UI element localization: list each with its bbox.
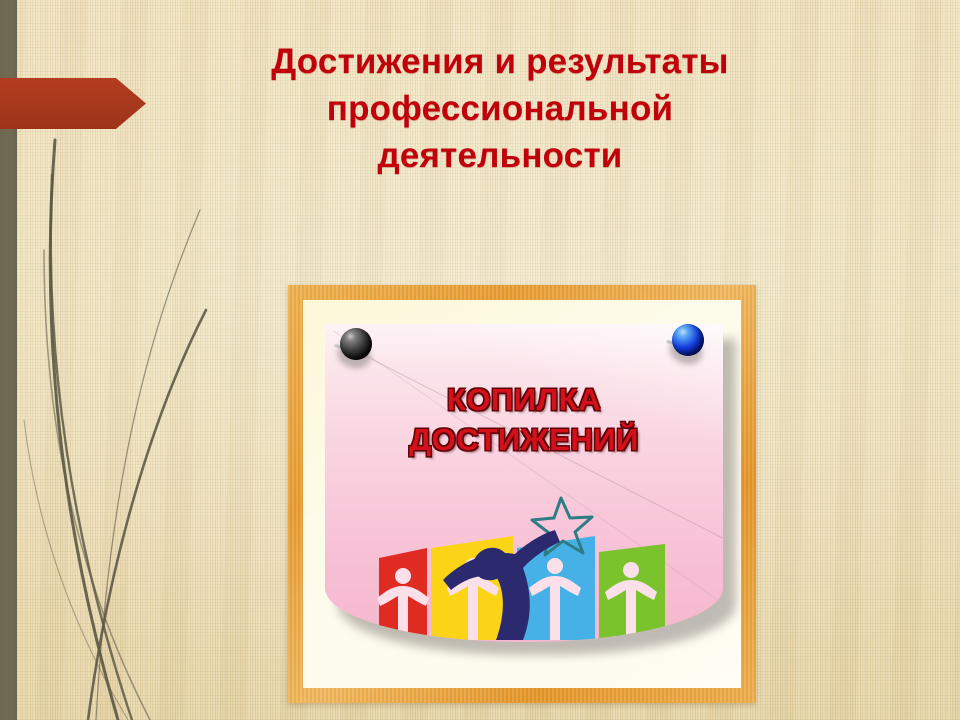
headline-line-2: ДОСТИЖЕНИЙ — [325, 420, 723, 460]
picture-headline: КОПИЛКА ДОСТИЖЕНИЙ — [325, 380, 723, 460]
title-line-2: профессиональной — [150, 85, 850, 132]
pin-dark-head — [340, 328, 372, 360]
pin-blue — [665, 322, 711, 368]
pin-dark — [333, 326, 379, 372]
picture-frame: КОПИЛКА ДОСТИЖЕНИЙ — [288, 285, 756, 703]
arrow-banner — [0, 78, 146, 129]
page-title: Достижения и результаты профессиональной… — [150, 38, 850, 179]
slide-canvas: Достижения и результаты профессиональной… — [0, 0, 960, 720]
headline-line-1: КОПИЛКА — [325, 380, 723, 420]
pin-blue-head — [672, 324, 704, 356]
achievement-logo — [365, 492, 685, 640]
title-line-1: Достижения и результаты — [150, 38, 850, 85]
title-line-3: деятельности — [150, 132, 850, 179]
pink-paper-sheet: КОПИЛКА ДОСТИЖЕНИЙ — [325, 324, 723, 642]
picture-mat: КОПИЛКА ДОСТИЖЕНИЙ — [303, 300, 741, 688]
